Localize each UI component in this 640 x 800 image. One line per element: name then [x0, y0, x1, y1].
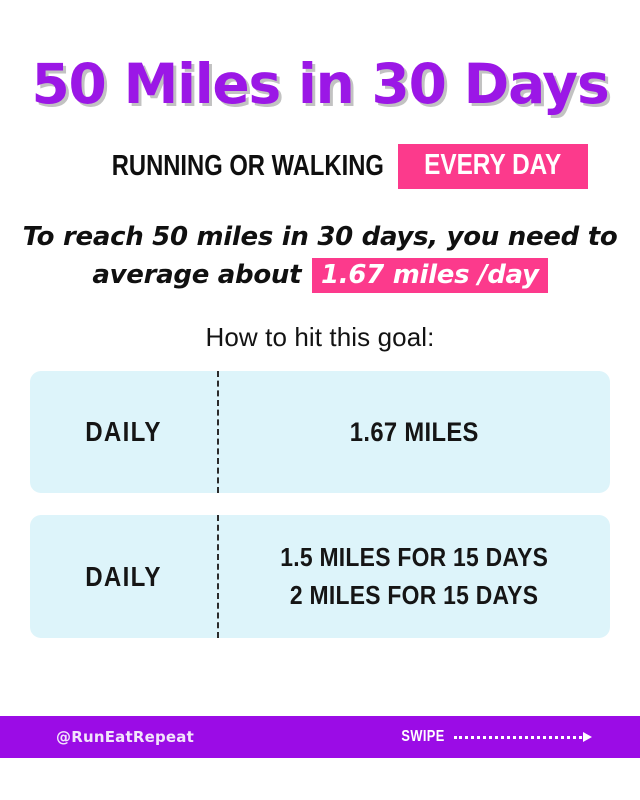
dotted-line: [454, 736, 582, 739]
goal-card-value: 1.5 MILES FOR 15 DAYS: [262, 542, 566, 573]
goal-card-value: 1.67 MILES: [341, 417, 488, 448]
goal-card-right: 1.67 MILES: [219, 371, 610, 493]
footer-bar: @RunEatRepeat SWIPE: [0, 716, 640, 758]
dotted-arrow-right-icon: [454, 732, 592, 742]
description-highlight: 1.67 miles /day: [312, 258, 548, 293]
goal-card-value: 2 MILES FOR 15 DAYS: [273, 580, 555, 611]
goal-card: DAILY 1.5 MILES FOR 15 DAYS 2 MILES FOR …: [30, 515, 610, 638]
goal-card-label: DAILY: [79, 416, 168, 448]
swipe-cta[interactable]: SWIPE: [396, 728, 592, 746]
goal-card-left: DAILY: [30, 515, 217, 638]
goal-card-label: DAILY: [79, 561, 168, 593]
page-title: 50 Miles in 30 Days: [0, 56, 640, 114]
goal-card: DAILY 1.67 MILES: [30, 371, 610, 493]
infographic-page: 50 Miles in 30 Days RUNNING OR WALKING E…: [0, 0, 640, 800]
subtitle-row: RUNNING OR WALKING EVERY DAY: [0, 144, 640, 189]
description-text: To reach 50 miles in 30 days, you need t…: [0, 218, 640, 294]
footer-handle[interactable]: @RunEatRepeat: [56, 728, 194, 746]
subtitle-badge-label: EVERY DAY: [424, 149, 561, 182]
howto-heading: How to hit this goal:: [0, 322, 640, 353]
goal-card-left: DAILY: [30, 371, 217, 493]
goal-card-right: 1.5 MILES FOR 15 DAYS 2 MILES FOR 15 DAY…: [219, 515, 610, 638]
subtitle-badge: EVERY DAY: [398, 144, 587, 189]
subtitle-text: RUNNING OR WALKING: [112, 150, 384, 183]
arrow-head: [583, 732, 592, 742]
swipe-label: SWIPE: [396, 728, 450, 746]
